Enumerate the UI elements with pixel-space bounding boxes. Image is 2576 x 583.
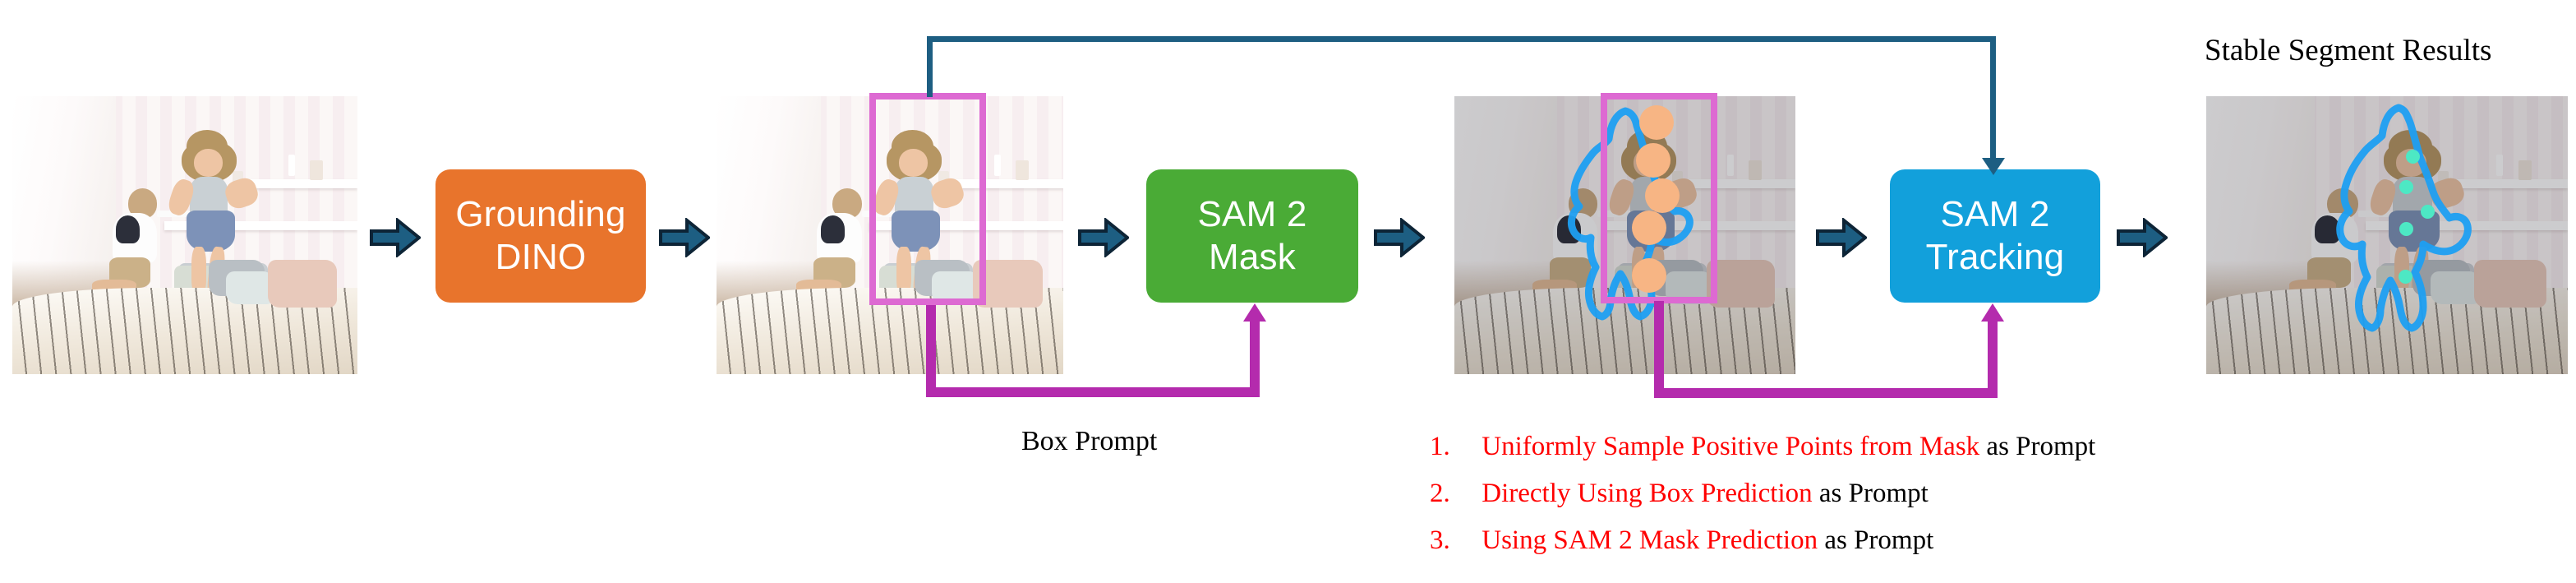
arrow-sam2-tracking-to-result: [2117, 218, 2168, 257]
process-box-grounding-dino[interactable]: Grounding DINO: [435, 169, 646, 303]
prompt-option-red-text: Directly Using Box Prediction: [1482, 479, 1812, 508]
arrow-points-to-sam2-tracking: [1816, 218, 1867, 257]
tracked-point: [2399, 180, 2413, 194]
prompt-option-row: 1. Uniformly Sample Positive Points from…: [1430, 432, 2095, 462]
sam2-tracking-label-line2: Tracking: [1926, 236, 2065, 279]
prompt-option-black-text: as Prompt: [1813, 479, 1929, 508]
tracked-point: [2421, 205, 2435, 219]
connector-box-prompt-to-tracking-vertical-right: [1990, 36, 1996, 164]
tracked-point: [2399, 222, 2413, 236]
prompt-option-number: 1.: [1430, 432, 1450, 461]
process-box-sam2-mask[interactable]: SAM 2 Mask: [1146, 169, 1358, 303]
connector-points-prompt-vertical: [1654, 301, 1664, 393]
prompt-option-red-text: Uniformly Sample Positive Points from Ma…: [1482, 432, 1979, 461]
process-box-sam2-tracking[interactable]: SAM 2 Tracking: [1890, 169, 2100, 303]
prompt-option-row: 3. Using SAM 2 Mask Prediction as Prompt: [1430, 525, 1933, 556]
prompt-option-black-text: as Prompt: [1979, 432, 2095, 461]
box-prompt-label: Box Prompt: [1021, 426, 1157, 457]
arrow-input-to-grounding-dino: [370, 218, 421, 257]
connector-arrowhead-into-sam2-mask: [1242, 303, 1267, 322]
tracked-point: [2399, 270, 2412, 284]
connector-box-prompt-to-tracking-horizontal: [927, 36, 1996, 42]
positive-point: [1636, 143, 1670, 178]
connector-points-prompt-riser: [1988, 317, 1998, 398]
connector-points-prompt-horizontal: [1654, 388, 1998, 398]
result-frame-image: [2206, 96, 2568, 374]
prompt-option-number: 3.: [1430, 525, 1450, 555]
input-frame-image: [12, 96, 357, 374]
mask-outline-result: [2206, 96, 2568, 374]
prompt-option-row: 2. Directly Using Box Prediction as Prom…: [1430, 479, 1929, 509]
connector-box-prompt-riser: [1250, 317, 1260, 397]
positive-point: [1632, 258, 1666, 293]
grounding-dino-label-line1: Grounding: [455, 193, 625, 236]
tracked-point: [2406, 150, 2420, 164]
positive-point: [1632, 211, 1666, 245]
arrow-sam2-mask-to-points: [1374, 218, 1425, 257]
arrow-detection-to-sam2-mask: [1078, 218, 1129, 257]
grounding-dino-label-line2: DINO: [455, 236, 625, 279]
connector-box-prompt-to-tracking-vertical-left: [927, 36, 933, 97]
connector-box-prompt-horizontal: [926, 387, 1255, 397]
positive-point: [1639, 105, 1674, 140]
connector-arrowhead-into-tracking: [1980, 156, 2007, 176]
detection-bounding-box: [869, 93, 986, 305]
prompt-option-red-text: Using SAM 2 Mask Prediction: [1482, 525, 1818, 555]
arrow-grounding-dino-to-detection: [659, 218, 710, 257]
sam2-mask-label-line1: SAM 2: [1197, 193, 1306, 236]
positive-point: [1645, 178, 1680, 213]
prompt-option-black-text: as Prompt: [1818, 525, 1933, 555]
connector-box-prompt-vertical: [926, 305, 936, 392]
prompt-option-number: 2.: [1430, 479, 1450, 508]
page-title: Stable Segment Results: [2205, 33, 2491, 68]
sam2-mask-label-line2: Mask: [1197, 236, 1306, 279]
sam2-tracking-label-line1: SAM 2: [1926, 193, 2065, 236]
connector-arrowhead-into-sam2-tracking: [1980, 303, 2005, 322]
